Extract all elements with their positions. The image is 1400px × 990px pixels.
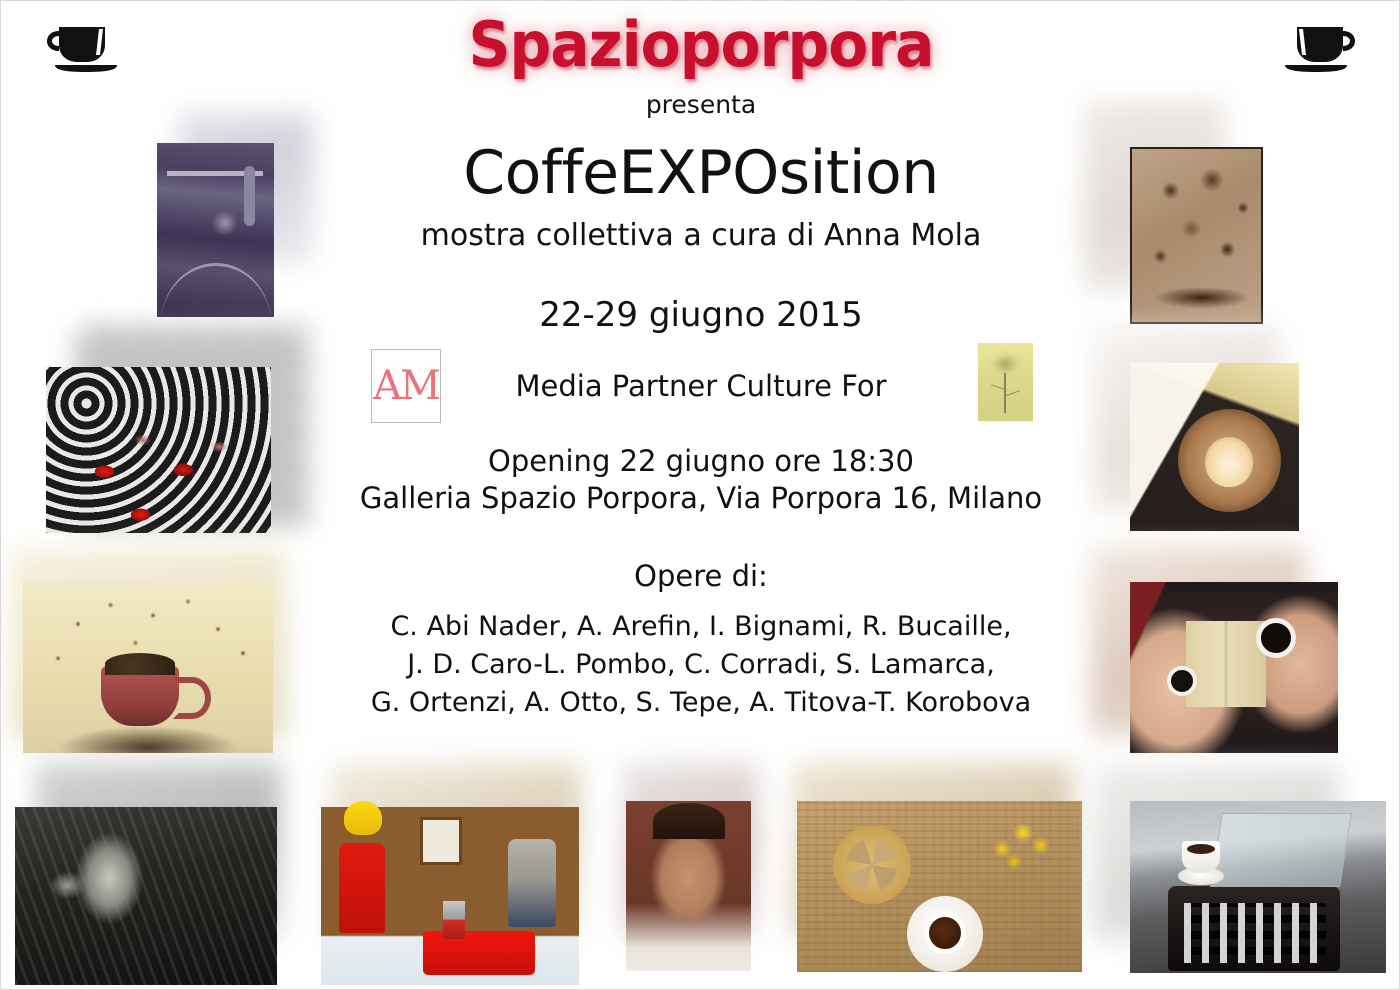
presents-label: presenta [341,92,1061,117]
artwork-coffee-stain-abstract [1130,147,1263,324]
artwork-cup-body [101,666,179,726]
artwork-detail-handle [244,166,255,226]
exhibition-poster: AM Spazioporpora presenta CoffeEXPOsitio… [0,0,1400,990]
opening-address: Galleria Spazio Porpora, Via Porpora 16,… [341,480,1061,517]
opening-details: Opening 22 giugno ore 18:30 Galleria Spa… [341,443,1061,517]
artwork-framed-picture [420,817,462,865]
artwork-cup-beans-mound [105,653,175,675]
artists-line: C. Abi Nader, A. Arefin, I. Bignami, R. … [341,608,1061,646]
artwork-open-book [1186,621,1266,707]
artists-line: J. D. Caro-L. Pombo, C. Corradi, S. Lama… [341,646,1061,684]
artwork-red-tray [423,931,535,975]
artwork-red-coffee-beans [46,367,271,533]
artwork-cup-handle [173,677,211,719]
artwork-espresso-cup [924,912,966,954]
artists-line: G. Ortenzi, A. Otto, S. Tepe, A. Titova-… [341,684,1061,722]
coffee-cup-icon [47,23,125,73]
artwork-moka-pot [443,901,465,939]
media-partner: Media Partner Culture For [341,372,1061,401]
artwork-braided-hair [653,803,725,839]
artwork-bread-slices [846,839,898,891]
coffee-cup-icon [1277,23,1355,73]
artwork-coffee-cup-small [1167,666,1197,696]
artwork-latte-art-heart [1205,437,1253,487]
artwork-coffee-cup-large [1256,618,1296,658]
artwork-yellow-flowers [986,813,1060,871]
artwork-coffee-surface [1187,844,1215,854]
brand-logo: Spazioporpora [363,14,1040,76]
artwork-yellow-hair-dryer [344,801,382,835]
poster-text-column: Spazioporpora presenta CoffeEXPOsition m… [341,1,1061,722]
artwork-typewriter-keys [1184,903,1326,963]
artwork-vintage-interior-teapot [15,807,277,985]
works-heading: Opere di: [341,562,1061,591]
artists-list: C. Abi Nader, A. Arefin, I. Bignami, R. … [341,608,1061,721]
artwork-seated-man [508,839,556,927]
exhibition-dates: 22-29 giugno 2015 [341,298,1061,332]
exhibition-subtitle: mostra collettiva a cura di Anna Mola [341,221,1061,251]
artwork-woman-red-dress [339,843,385,933]
artwork-typewriter-glass-cover [1210,813,1352,887]
opening-time: Opening 22 giugno ore 18:30 [341,443,1061,480]
page-title: CoffeEXPOsition [341,142,1061,205]
